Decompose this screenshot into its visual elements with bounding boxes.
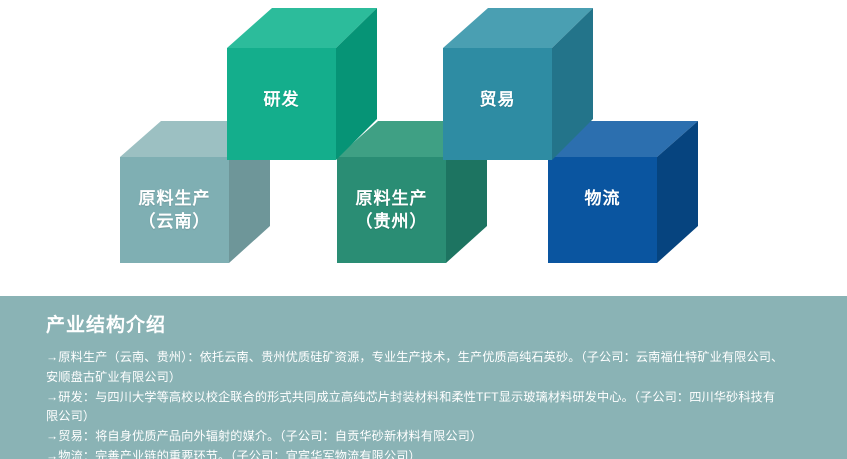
industry-structure-panel: 产业结构介绍 →原料生产（云南、贵州）：依托云南、贵州优质硅矿资源，专业生产技术… [0, 294, 847, 459]
cube-rd[interactable]: 研发 [227, 3, 387, 165]
industry-structure-infographic: 原料生产 （云南） 研发 原料生产 （贵州） [0, 0, 847, 459]
panel-line-logistics: →物流：完善产业链的重要环节。（子公司：宜宾华军物流有限公司） [46, 447, 787, 459]
panel-title: 产业结构介绍 [46, 310, 801, 337]
panel-description: →原料生产（云南、贵州）：依托云南、贵州优质硅矿资源，专业生产技术，生产优质高纯… [46, 348, 801, 459]
panel-line-trade: →贸易：将自身优质产品向外辐射的媒介。（子公司：自贡华砂新材料有限公司） [46, 427, 787, 447]
cube-rd-shape [227, 3, 387, 165]
cube-trade-shape [443, 3, 603, 165]
cube-diagram: 原料生产 （云南） 研发 原料生产 （贵州） [0, 0, 847, 294]
panel-line-raw-material: →原料生产（云南、贵州）：依托云南、贵州优质硅矿资源，专业生产技术，生产优质高纯… [46, 348, 787, 388]
cube-trade[interactable]: 贸易 [443, 3, 603, 165]
panel-line-rd: →研发：与四川大学等高校以校企联合的形式共同成立高纯芯片封装材料和柔性TFT显示… [46, 388, 787, 428]
